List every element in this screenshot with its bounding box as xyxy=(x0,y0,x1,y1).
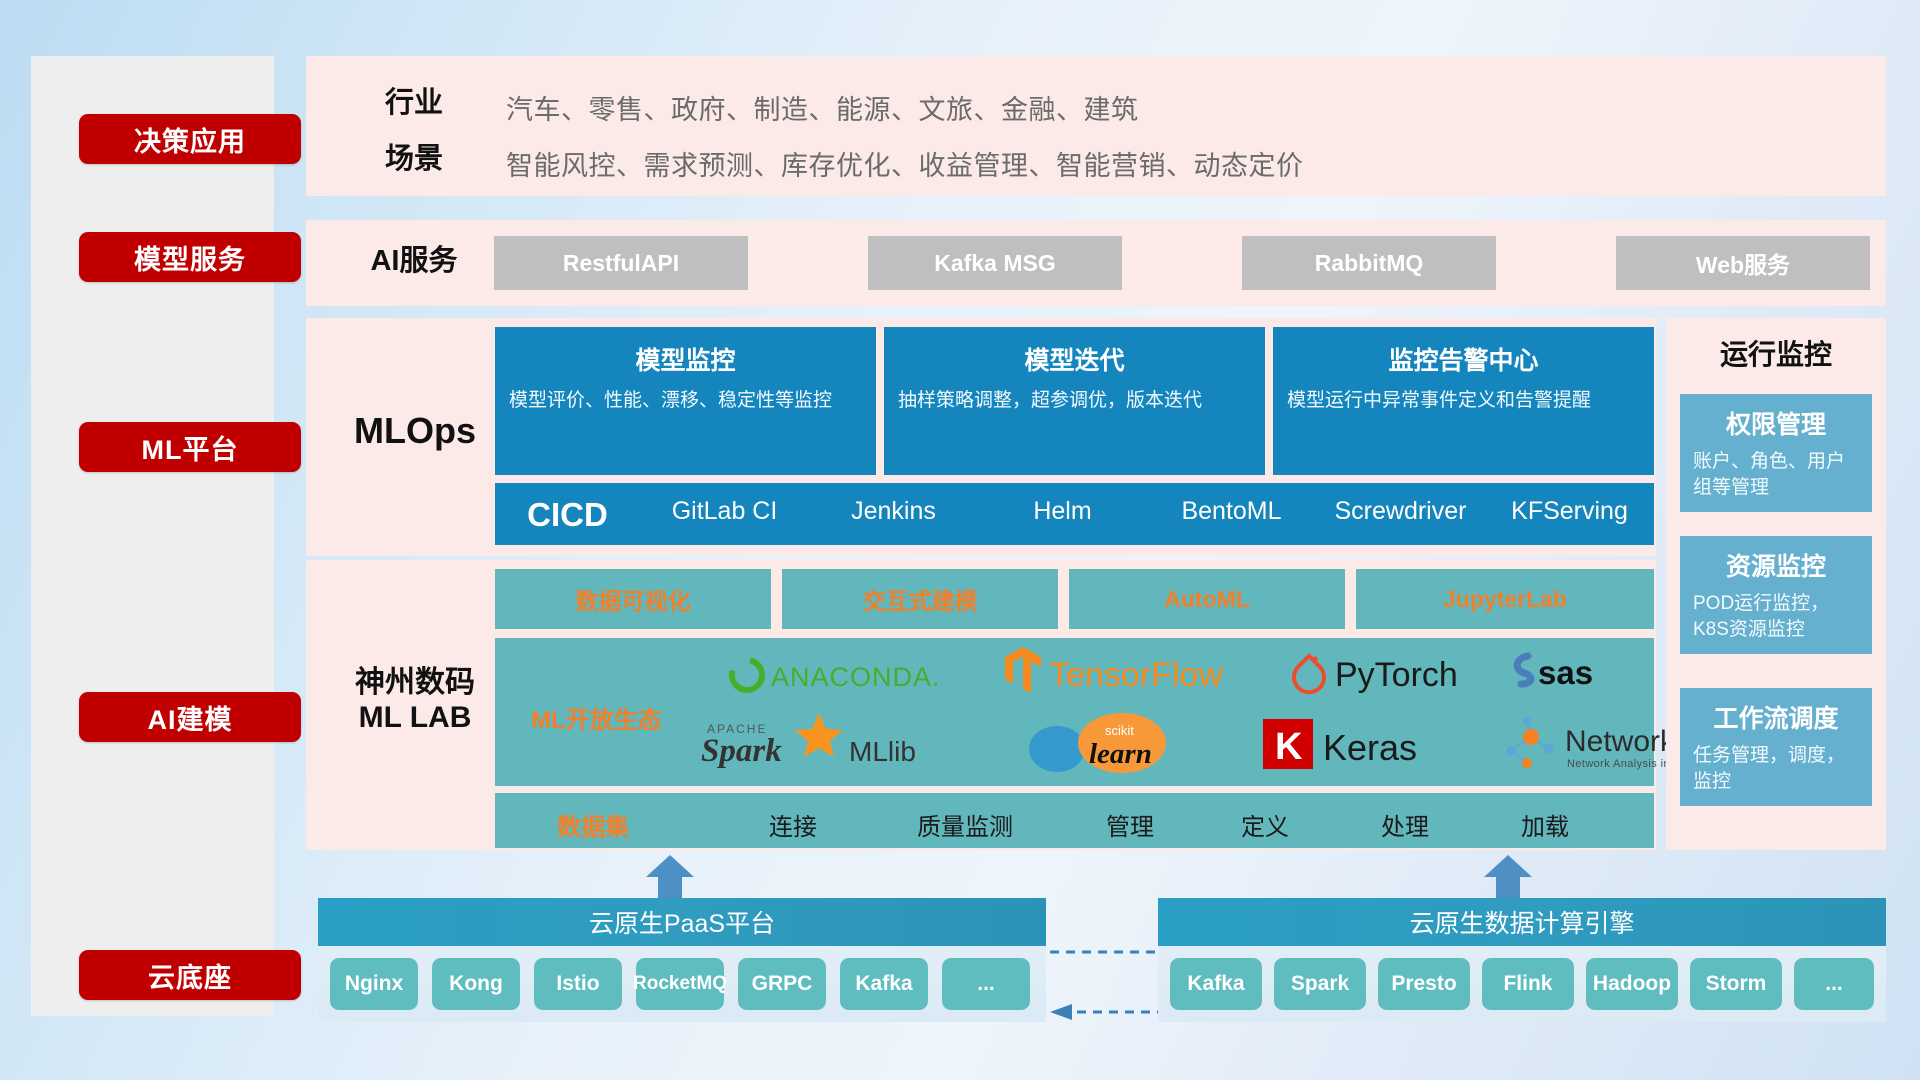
dataset-band: 数据集 连接 质量监测 管理 定义 处理 加载 xyxy=(495,793,1654,848)
mlops-card-alert-center[interactable]: 监控告警中心 模型运行中异常事件定义和告警提醒 xyxy=(1273,327,1654,475)
ml-lab-label: 神州数码 ML LAB xyxy=(320,665,510,736)
cloud-paas-chip-rocketmq[interactable]: RocketMQ xyxy=(636,958,724,1010)
monitoring-card-desc: POD运行监控，K8S资源监控 xyxy=(1693,591,1859,643)
svg-text:learn: learn xyxy=(1089,738,1152,770)
cloud-paas-chip-kafka[interactable]: Kafka xyxy=(840,958,928,1010)
dataset-label: 数据集 xyxy=(557,807,629,842)
ai-service-chip-kafka-msg[interactable]: Kafka MSG xyxy=(868,236,1122,290)
svg-text:Spark: Spark xyxy=(701,733,782,769)
cicd-item-screwdriver[interactable]: Screwdriver xyxy=(1316,483,1485,524)
dataset-item-quality[interactable]: 质量监测 xyxy=(885,807,1045,842)
cloud-paas-chip-kong[interactable]: Kong xyxy=(432,958,520,1010)
anaconda-logo: ANACONDA. xyxy=(720,650,970,700)
industry-scenario-panel: 行业 汽车、零售、政府、制造、能源、文旅、金融、建筑 场景 智能风控、需求预测、… xyxy=(306,56,1886,196)
ai-service-label: AI服务 xyxy=(344,244,484,278)
mlops-card-title: 模型迭代 xyxy=(884,341,1265,377)
cloud-engine-chip-more[interactable]: ... xyxy=(1794,958,1874,1010)
ml-lab-tab-interactive-modeling[interactable]: 交互式建模 xyxy=(782,569,1058,629)
monitoring-card-desc: 任务管理，调度，监控 xyxy=(1693,743,1859,795)
arrow-up-engine-icon xyxy=(1478,855,1538,899)
cloud-engine-chip-kafka[interactable]: Kafka xyxy=(1170,958,1262,1010)
ai-service-chip-rabbitmq[interactable]: RabbitMQ xyxy=(1242,236,1496,290)
monitoring-card-permission[interactable]: 权限管理 账户、角色、用户组等管理 xyxy=(1680,394,1872,512)
mlops-card-desc: 模型评价、性能、漂移、稳定性等监控 xyxy=(509,388,862,414)
ml-lab-label-line2: ML LAB xyxy=(359,701,472,734)
ml-lab-panel: 神州数码 ML LAB 数据可视化 交互式建模 AutoML JupyterLa… xyxy=(306,560,1656,850)
svg-text:PyTorch: PyTorch xyxy=(1335,656,1458,694)
rail-item-cloud-base[interactable]: 云底座 xyxy=(79,950,301,1000)
tensorflow-logo: TensorFlow xyxy=(993,644,1273,700)
cicd-item-gitlab[interactable]: GitLab CI xyxy=(640,483,809,524)
svg-text:sas: sas xyxy=(1538,654,1593,691)
architecture-diagram: 决策应用 模型服务 ML平台 AI建模 云底座 行业 汽车、零售、政府、制造、能… xyxy=(0,0,1920,1080)
rail-item-model-service[interactable]: 模型服务 xyxy=(79,232,301,282)
mlops-card-desc: 抽样策略调整，超参调优，版本迭代 xyxy=(898,388,1251,414)
cloud-engine-block: 云原生数据计算引擎 Kafka Spark Presto Flink Hadoo… xyxy=(1158,898,1886,1022)
monitoring-card-title: 资源监控 xyxy=(1680,547,1872,583)
cicd-title: CICD xyxy=(495,483,640,533)
mlops-panel: MLOps 模型监控 模型评价、性能、漂移、稳定性等监控 模型迭代 抽样策略调整… xyxy=(306,318,1656,556)
cloud-paas-chip-istio[interactable]: Istio xyxy=(534,958,622,1010)
dataset-item-load[interactable]: 加载 xyxy=(1490,807,1600,842)
mlops-card-model-monitoring[interactable]: 模型监控 模型评价、性能、漂移、稳定性等监控 xyxy=(495,327,876,475)
dataset-item-connect[interactable]: 连接 xyxy=(738,807,848,842)
svg-text:ANACONDA.: ANACONDA. xyxy=(771,662,941,692)
monitoring-card-resource[interactable]: 资源监控 POD运行监控，K8S资源监控 xyxy=(1680,536,1872,654)
scikit-learn-logo: scikit learn xyxy=(1015,710,1245,776)
ml-ecosystem-label: ML开放生态 xyxy=(531,700,662,735)
ml-lab-tab-jupyterlab[interactable]: JupyterLab xyxy=(1356,569,1654,629)
mlops-card-title: 监控告警中心 xyxy=(1273,341,1654,377)
cicd-item-jenkins[interactable]: Jenkins xyxy=(809,483,978,524)
cloud-engine-chip-hadoop[interactable]: Hadoop xyxy=(1586,958,1678,1010)
mlops-card-model-iteration[interactable]: 模型迭代 抽样策略调整，超参调优，版本迭代 xyxy=(884,327,1265,475)
dataset-item-define[interactable]: 定义 xyxy=(1210,807,1320,842)
svg-text:K: K xyxy=(1275,726,1303,768)
cicd-bar: CICD GitLab CI Jenkins Helm BentoML Scre… xyxy=(495,483,1654,545)
svg-text:MLlib: MLlib xyxy=(849,736,916,767)
cloud-engine-chip-storm[interactable]: Storm xyxy=(1690,958,1782,1010)
mlops-card-desc: 模型运行中异常事件定义和告警提醒 xyxy=(1287,388,1640,414)
spark-mllib-logo: APACHE Spark MLlib xyxy=(695,710,995,776)
cloud-engine-chip-presto[interactable]: Presto xyxy=(1378,958,1470,1010)
svg-text:scikit: scikit xyxy=(1105,723,1134,738)
ml-lab-tab-automl[interactable]: AutoML xyxy=(1069,569,1345,629)
cicd-item-kfserving[interactable]: KFServing xyxy=(1485,483,1654,524)
cloud-paas-title: 云原生PaaS平台 xyxy=(318,898,1046,946)
industry-value: 汽车、零售、政府、制造、能源、文旅、金融、建筑 xyxy=(506,88,1139,127)
monitoring-card-workflow[interactable]: 工作流调度 任务管理，调度，监控 xyxy=(1680,688,1872,806)
ml-ecosystem-band: ML开放生态 ANACONDA. TensorFlow xyxy=(495,638,1654,786)
cloud-engine-chip-flink[interactable]: Flink xyxy=(1482,958,1574,1010)
rail-item-ai-modeling[interactable]: AI建模 xyxy=(79,692,301,742)
keras-logo: K Keras xyxy=(1255,710,1505,776)
arrow-up-paas-icon xyxy=(640,855,700,899)
sas-logo: sas xyxy=(1505,646,1665,696)
dataset-item-process[interactable]: 处理 xyxy=(1350,807,1460,842)
cloud-paas-chip-nginx[interactable]: Nginx xyxy=(330,958,418,1010)
cicd-item-bentoml[interactable]: BentoML xyxy=(1147,483,1316,524)
scenario-value: 智能风控、需求预测、库存优化、收益管理、智能营销、动态定价 xyxy=(506,144,1304,183)
scenario-label: 场景 xyxy=(359,142,469,176)
cloud-paas-chip-grpc[interactable]: GRPC xyxy=(738,958,826,1010)
cicd-item-helm[interactable]: Helm xyxy=(978,483,1147,524)
ai-service-panel: AI服务 RestfulAPI Kafka MSG RabbitMQ Web服务 xyxy=(306,220,1886,306)
rail-item-ml-platform[interactable]: ML平台 xyxy=(79,422,301,472)
svg-text:TensorFlow: TensorFlow xyxy=(1049,656,1223,694)
monitoring-panel: 运行监控 权限管理 账户、角色、用户组等管理 资源监控 POD运行监控，K8S资… xyxy=(1666,318,1886,850)
cloud-paas-block: 云原生PaaS平台 Nginx Kong Istio RocketMQ GRPC… xyxy=(318,898,1046,1022)
pytorch-logo: PyTorch xyxy=(1285,644,1515,700)
cloud-engine-chip-spark[interactable]: Spark xyxy=(1274,958,1366,1010)
monitoring-title: 运行监控 xyxy=(1666,338,1886,371)
dataset-item-manage[interactable]: 管理 xyxy=(1075,807,1185,842)
cloud-engine-title: 云原生数据计算引擎 xyxy=(1158,898,1886,946)
cloud-paas-chip-more[interactable]: ... xyxy=(942,958,1030,1010)
ml-lab-tab-data-visualization[interactable]: 数据可视化 xyxy=(495,569,771,629)
ai-service-chip-restfulapi[interactable]: RestfulAPI xyxy=(494,236,748,290)
left-rail: 决策应用 模型服务 ML平台 AI建模 云底座 xyxy=(31,56,274,1016)
ml-lab-label-line1: 神州数码 xyxy=(355,666,475,699)
monitoring-card-title: 权限管理 xyxy=(1680,405,1872,441)
mlops-card-title: 模型监控 xyxy=(495,341,876,377)
industry-label: 行业 xyxy=(359,86,469,120)
mlops-label: MLOps xyxy=(330,410,500,452)
ai-service-chip-web-service[interactable]: Web服务 xyxy=(1616,236,1870,290)
svg-text:Keras: Keras xyxy=(1323,727,1417,768)
monitoring-card-title: 工作流调度 xyxy=(1680,699,1872,735)
monitoring-card-desc: 账户、角色、用户组等管理 xyxy=(1693,449,1859,501)
rail-item-decision-app[interactable]: 决策应用 xyxy=(79,114,301,164)
